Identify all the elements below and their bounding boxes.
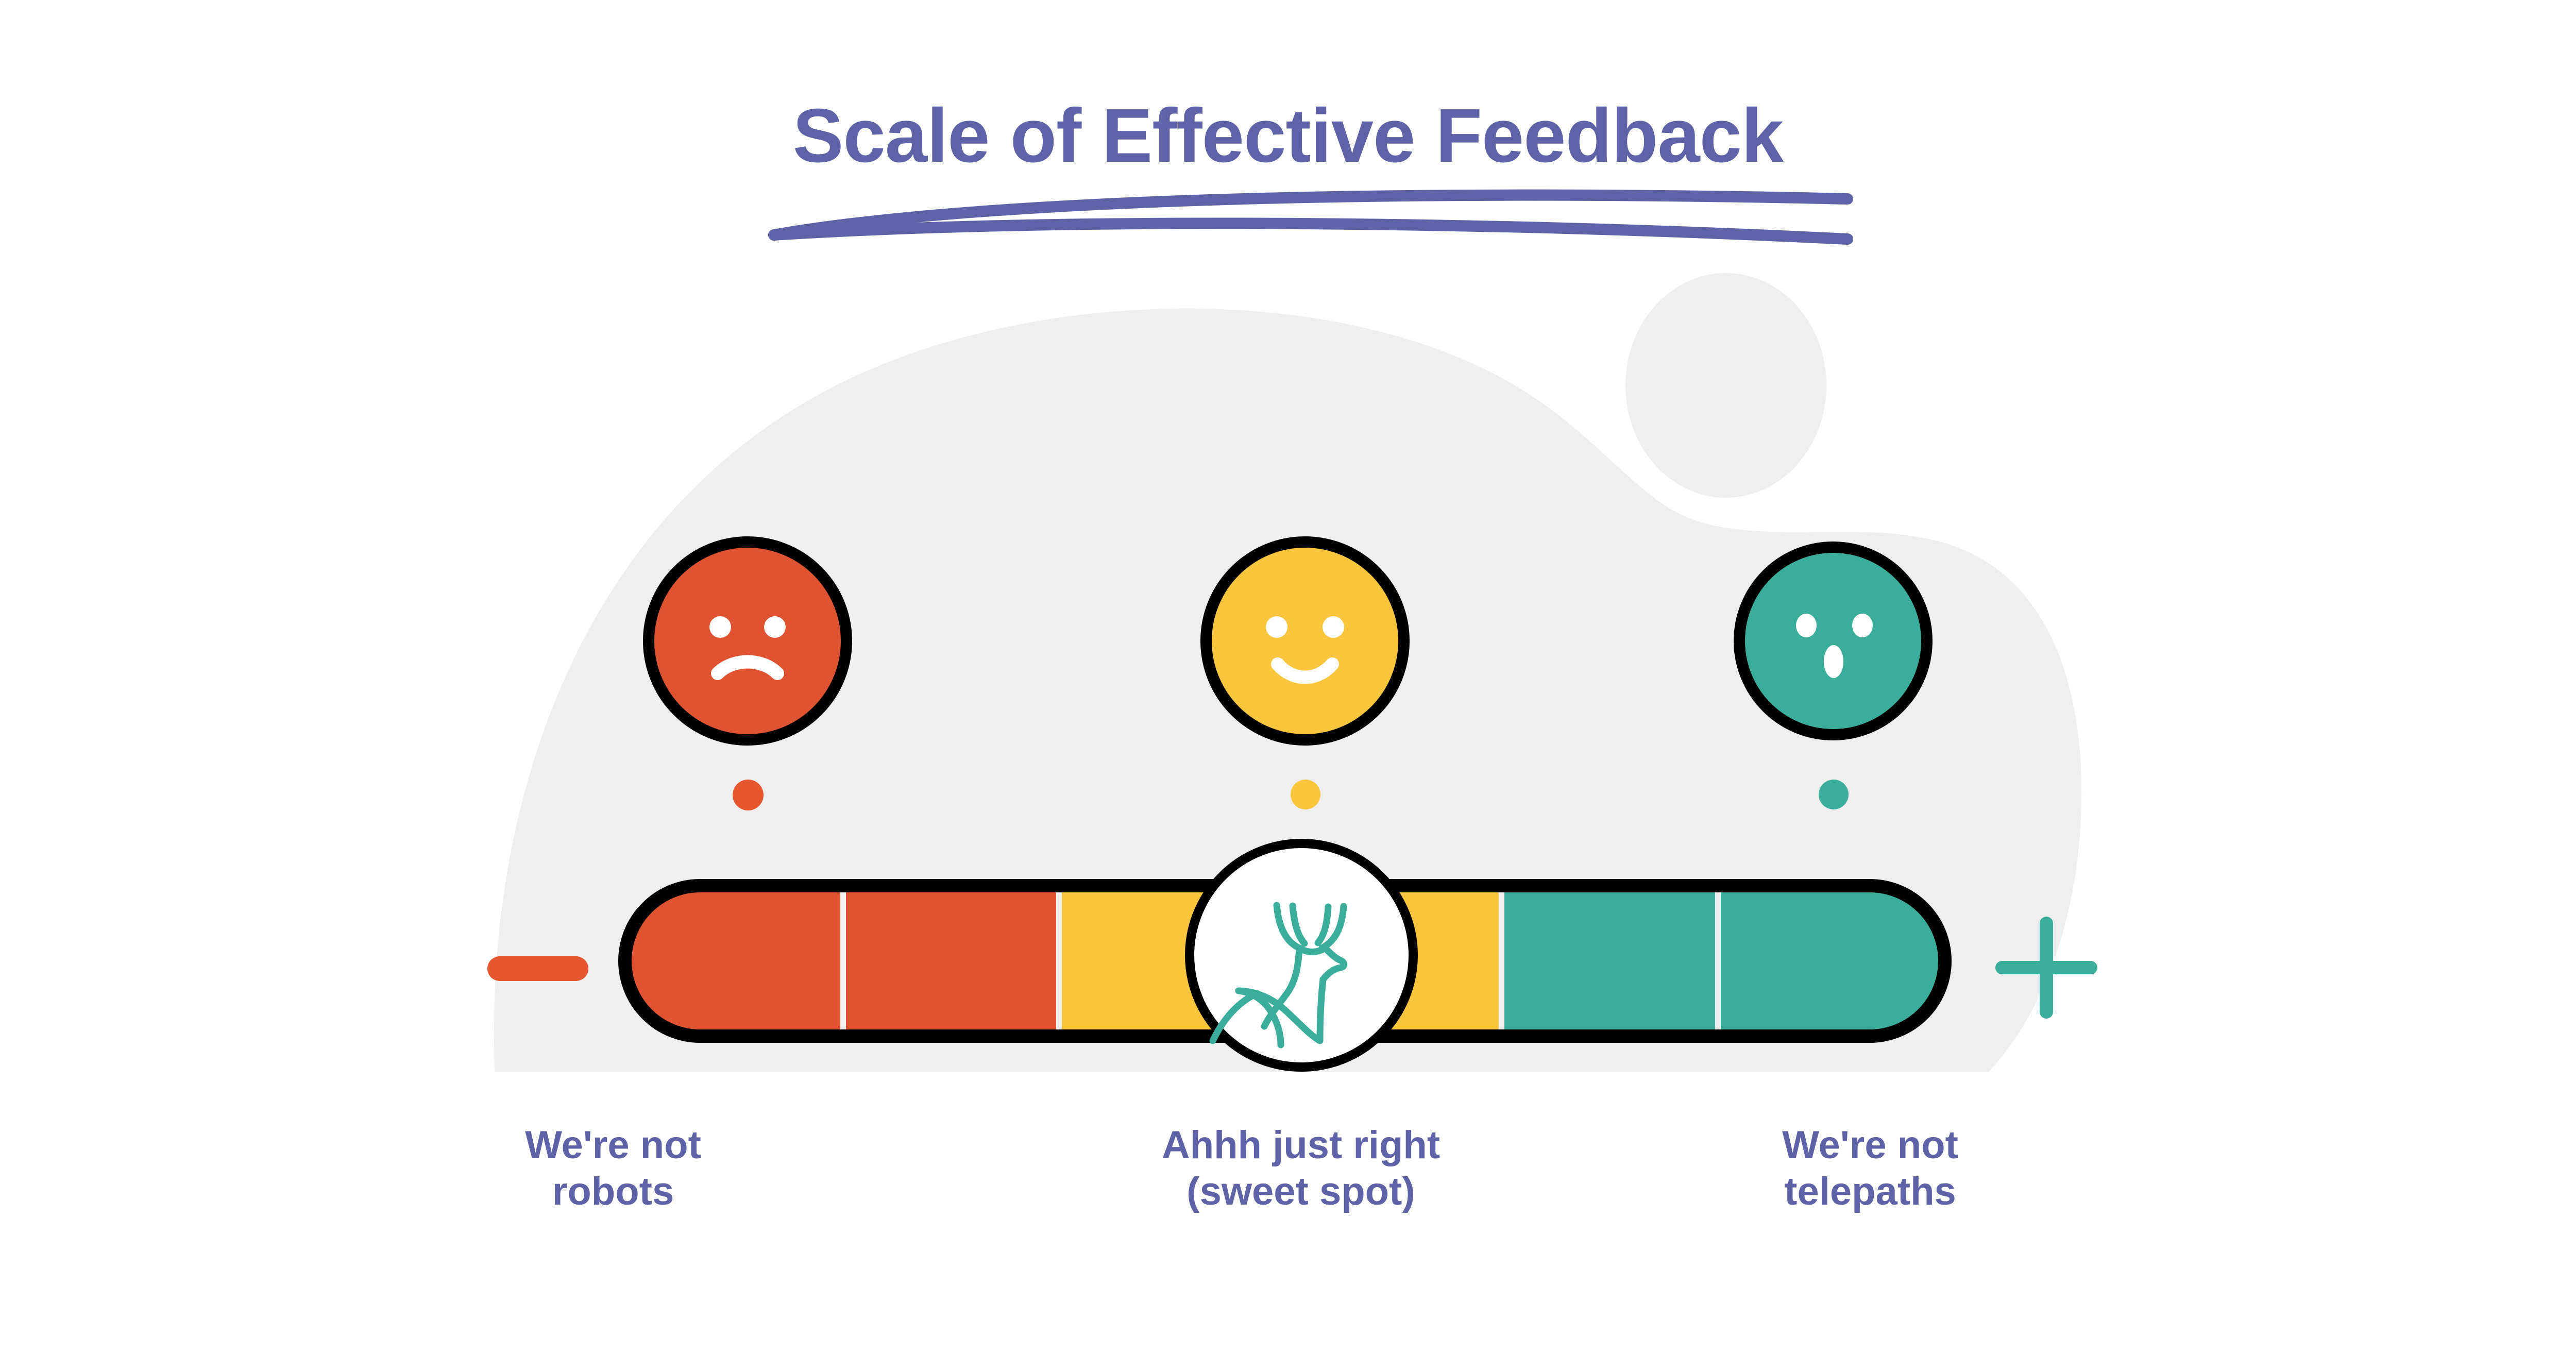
scale-segment-teal-2[interactable] xyxy=(1721,892,1938,1029)
segment-divider xyxy=(1056,892,1062,1029)
segment-divider xyxy=(1715,892,1721,1029)
segment-divider xyxy=(840,892,846,1029)
blob-accent-circle xyxy=(1625,273,1826,498)
caption-left-line2: robots xyxy=(448,1169,778,1215)
indicator-dot-teal xyxy=(1819,780,1849,809)
scale-segment-red-2[interactable] xyxy=(846,892,1056,1029)
happy-face-yellow xyxy=(1200,536,1410,746)
indicator-dot-red xyxy=(733,780,764,810)
surprised-face-teal xyxy=(1734,542,1933,740)
surprised-face-icon xyxy=(1734,542,1933,740)
scale-knob[interactable] xyxy=(1185,839,1418,1072)
page-title: Scale of Effective Feedback xyxy=(0,98,2576,174)
page-title-text: Scale of Effective Feedback xyxy=(793,98,1784,174)
scale-segment-teal-1[interactable] xyxy=(1504,892,1715,1029)
caption-right-line2: telepaths xyxy=(1705,1169,2035,1215)
minus-icon[interactable] xyxy=(487,956,588,981)
sad-face-red xyxy=(643,536,852,746)
caption-left: We're not robots xyxy=(448,1122,778,1214)
deer-logo-icon xyxy=(1185,839,1418,1072)
caption-center: Ahhh just right (sweet spot) xyxy=(1082,1122,1520,1214)
caption-center-line2: (sweet spot) xyxy=(1082,1169,1520,1215)
caption-center-line1: Ahhh just right xyxy=(1082,1122,1520,1169)
sad-face-icon xyxy=(643,536,852,746)
plus-icon[interactable] xyxy=(1995,916,2098,1019)
indicator-dot-yellow xyxy=(1291,780,1320,809)
title-underline-swoosh xyxy=(762,185,1855,252)
infographic-canvas: Scale of Effective Feedback xyxy=(0,0,2576,1353)
caption-left-line1: We're not xyxy=(448,1122,778,1169)
caption-right-line1: We're not xyxy=(1705,1122,2035,1169)
happy-face-icon xyxy=(1200,536,1410,746)
scale-segment-red-1[interactable] xyxy=(632,892,840,1029)
segment-divider xyxy=(1499,892,1504,1029)
caption-right: We're not telepaths xyxy=(1705,1122,2035,1214)
